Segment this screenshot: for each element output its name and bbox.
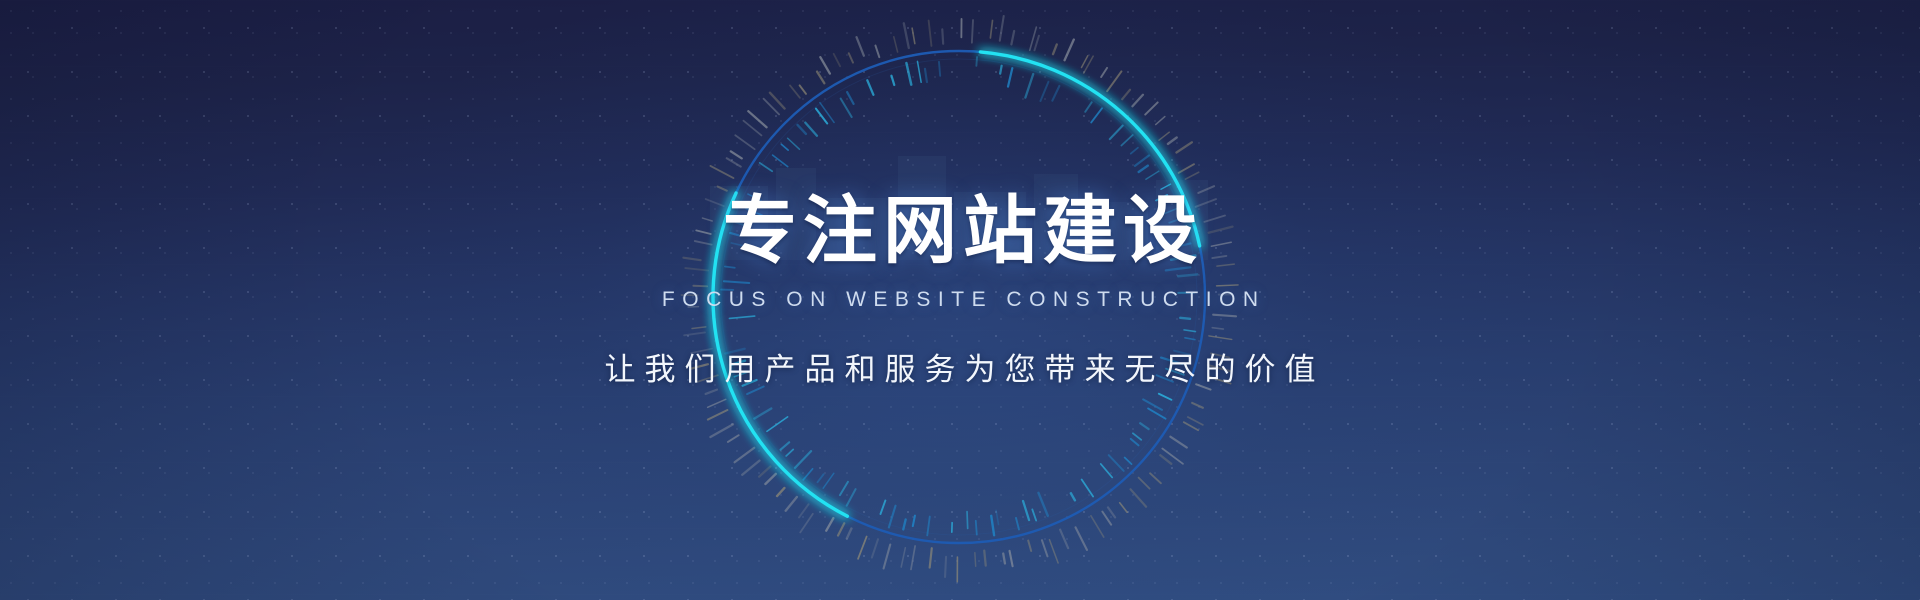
banner-title: 专注网站建设 — [717, 193, 1203, 268]
banner-tagline: 让我们用产品和服务为您带来无尽的价值 — [596, 344, 1325, 389]
banner-content: 专注网站建设 FOCUS ON WEBSITE CONSTRUCTION 让我们… — [0, 0, 1920, 600]
banner-subtitle: FOCUS ON WEBSITE CONSTRUCTION — [654, 288, 1265, 312]
hero-banner: 专注网站建设 FOCUS ON WEBSITE CONSTRUCTION 让我们… — [0, 0, 1920, 600]
